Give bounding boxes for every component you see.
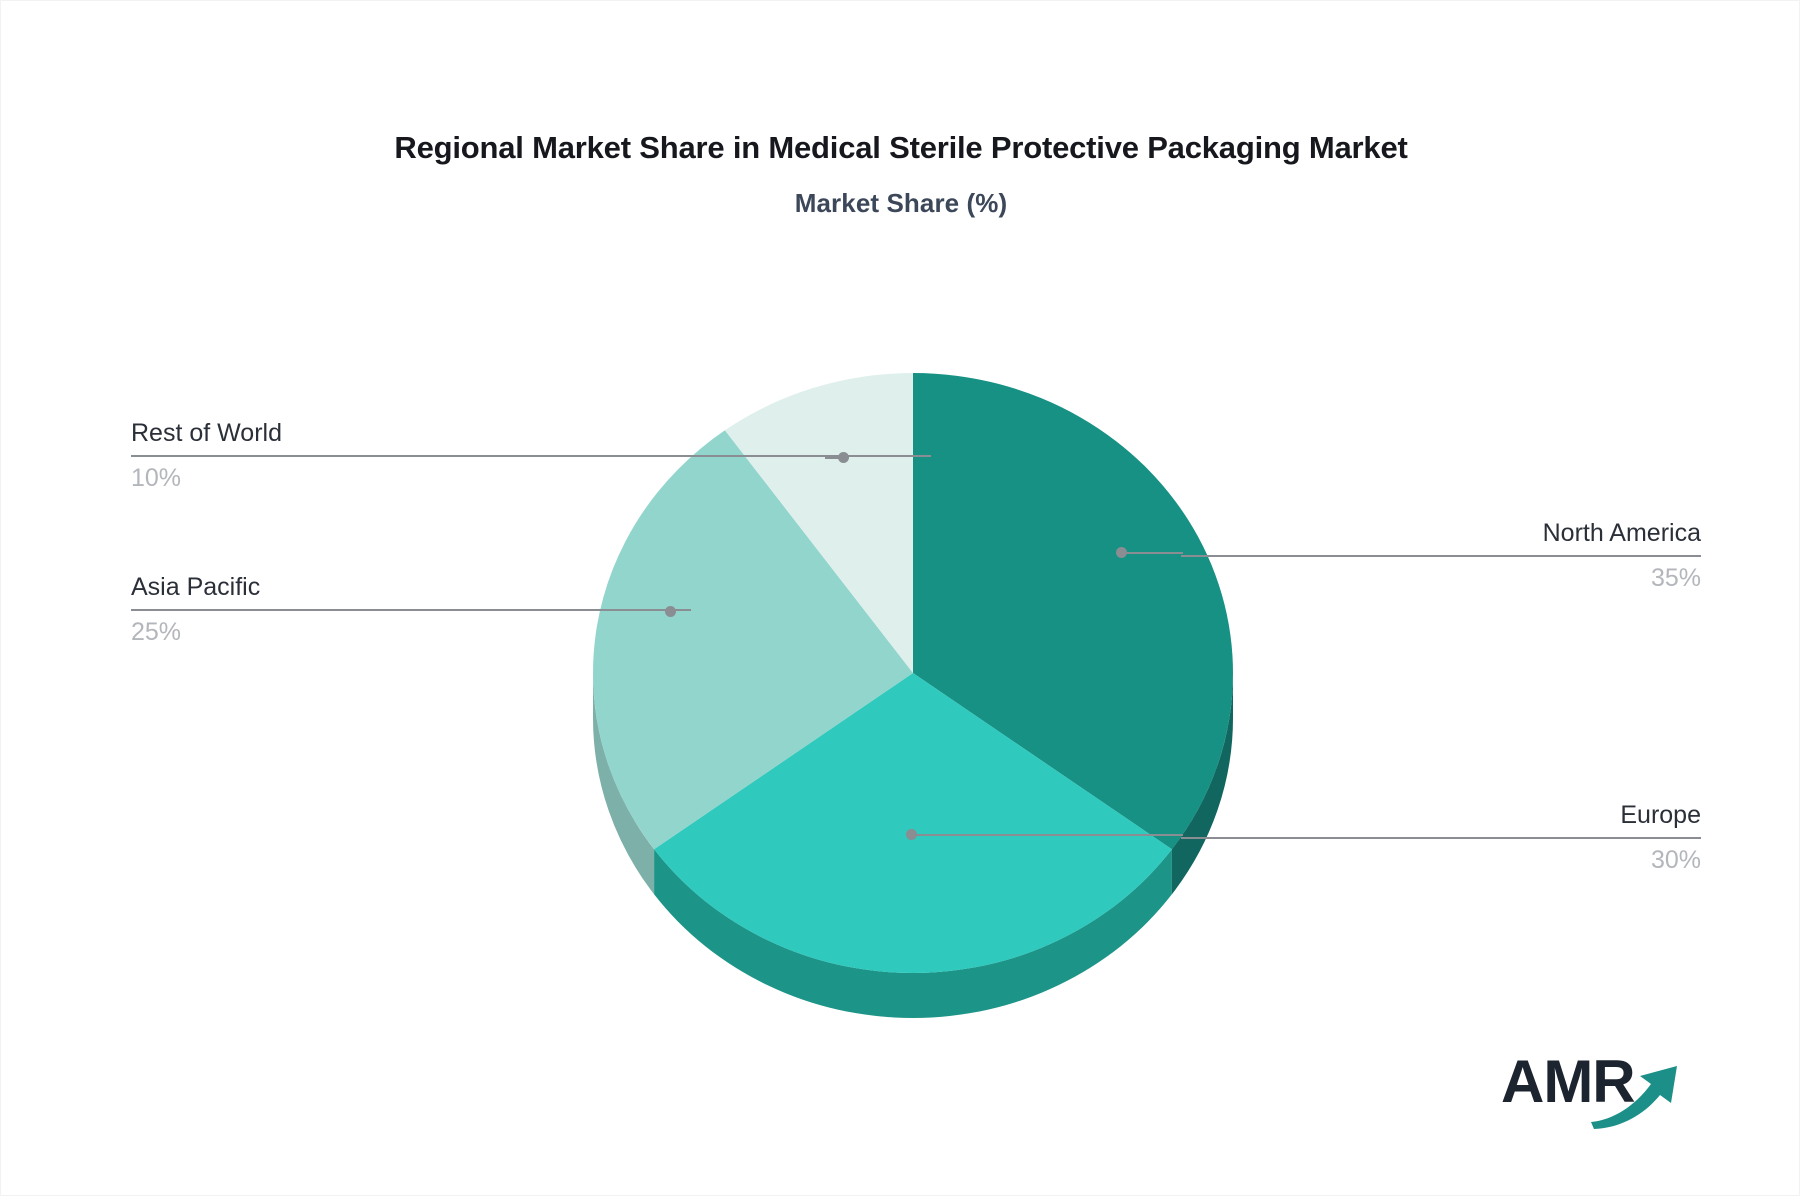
leader-dot-europe bbox=[906, 829, 917, 840]
callout-europe: Europe 30% bbox=[1181, 801, 1701, 875]
chart-canvas: Regional Market Share in Medical Sterile… bbox=[0, 0, 1800, 1196]
page-title: Regional Market Share in Medical Sterile… bbox=[1, 129, 1800, 166]
callout-label-europe: Europe bbox=[1181, 801, 1701, 830]
callout-asia-pacific: Asia Pacific 25% bbox=[131, 573, 691, 647]
title-block: Regional Market Share in Medical Sterile… bbox=[1, 129, 1800, 219]
callout-value-north-america: 35% bbox=[1181, 564, 1701, 593]
callout-label-north-america: North America bbox=[1181, 519, 1701, 548]
callout-rule bbox=[131, 455, 931, 457]
leader-dot-rest-of-world bbox=[838, 452, 849, 463]
callout-rule bbox=[131, 609, 691, 611]
callout-rule bbox=[1181, 837, 1701, 839]
callout-value-rest-of-world: 10% bbox=[131, 464, 931, 493]
leader-dot-asia-pacific bbox=[665, 606, 676, 617]
leader-line-europe bbox=[911, 834, 1183, 836]
callout-north-america: North America 35% bbox=[1181, 519, 1701, 593]
callout-label-asia-pacific: Asia Pacific bbox=[131, 573, 691, 602]
chart-subtitle: Market Share (%) bbox=[1, 188, 1800, 219]
callout-label-rest-of-world: Rest of World bbox=[131, 419, 931, 448]
leader-line-north-america bbox=[1121, 552, 1183, 554]
callout-value-asia-pacific: 25% bbox=[131, 618, 691, 647]
callout-rule bbox=[1181, 555, 1701, 557]
callout-value-europe: 30% bbox=[1181, 846, 1701, 875]
leader-dot-north-america bbox=[1116, 547, 1127, 558]
callout-rest-of-world: Rest of World 10% bbox=[131, 419, 931, 493]
amr-logo-svg: AMR bbox=[1501, 1040, 1691, 1135]
amr-logo: AMR bbox=[1501, 1040, 1691, 1135]
amr-logo-text: AMR bbox=[1501, 1048, 1635, 1115]
